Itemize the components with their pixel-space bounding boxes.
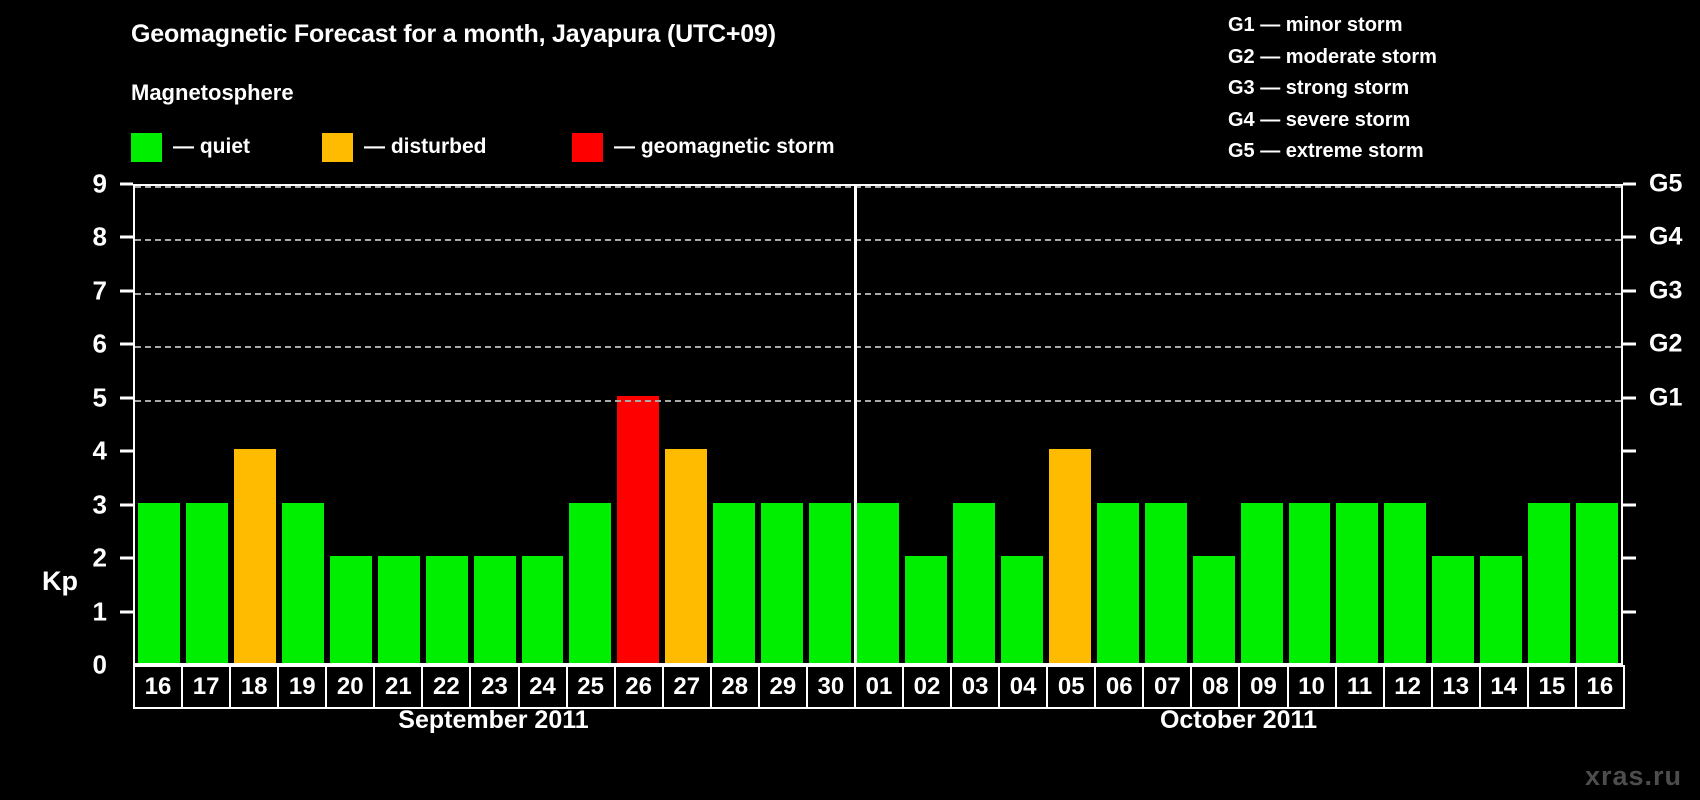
y-tick-mark xyxy=(120,236,133,239)
bar xyxy=(1432,556,1474,663)
gscale-row: G3 — strong storm xyxy=(1228,73,1437,105)
bar-cell xyxy=(1381,186,1429,663)
gridline xyxy=(135,346,1621,348)
bar xyxy=(186,503,228,663)
bar xyxy=(522,556,564,663)
page-title: Geomagnetic Forecast for a month, Jayapu… xyxy=(131,20,776,49)
g-tick-mark xyxy=(1623,503,1636,506)
g-axis: G1G2G3G4G5 xyxy=(1623,184,1700,665)
bar xyxy=(1049,449,1091,663)
g-tick-mark xyxy=(1623,343,1636,346)
bar xyxy=(761,503,803,663)
bar-cell xyxy=(135,186,183,663)
legend-item: — geomagnetic storm xyxy=(572,132,835,162)
watermark: xras.ru xyxy=(1585,761,1682,792)
bar xyxy=(282,503,324,663)
g-tick-mark xyxy=(1623,450,1636,453)
bar-cell xyxy=(1573,186,1621,663)
y-tick-mark xyxy=(120,183,133,186)
bar-cell xyxy=(998,186,1046,663)
month-label: September 2011 xyxy=(398,706,588,735)
y-axis: Kp 0123456789 xyxy=(0,184,133,665)
gscale-row: G1 — minor storm xyxy=(1228,10,1437,42)
bar-cell xyxy=(1094,186,1142,663)
gscale-legend: G1 — minor stormG2 — moderate stormG3 — … xyxy=(1228,10,1437,168)
bar xyxy=(569,503,611,663)
bar-cell xyxy=(423,186,471,663)
bar xyxy=(1097,503,1139,663)
bar-cell xyxy=(854,186,902,663)
y-tick-mark xyxy=(120,343,133,346)
bar xyxy=(1576,503,1618,663)
y-tick-mark xyxy=(120,289,133,292)
bar xyxy=(857,503,899,663)
bar-cell xyxy=(1238,186,1286,663)
bar-cell xyxy=(375,186,423,663)
gscale-row: G4 — severe storm xyxy=(1228,105,1437,137)
bar-series xyxy=(135,186,1621,663)
gridline xyxy=(135,239,1621,241)
bar xyxy=(905,556,947,663)
bar xyxy=(1528,503,1570,663)
bar xyxy=(1384,503,1426,663)
bar-cell xyxy=(1286,186,1334,663)
bar xyxy=(1336,503,1378,663)
bar xyxy=(1193,556,1235,663)
y-axis-label: Kp xyxy=(42,566,78,597)
g-tick-mark xyxy=(1623,396,1636,399)
legend-swatch-icon xyxy=(572,133,603,162)
g-tick-label: G1 xyxy=(1649,383,1682,412)
bar xyxy=(617,396,659,663)
chart-subtitle: Magnetosphere xyxy=(131,80,294,106)
month-axis: September 2011October 2011 xyxy=(133,678,1623,738)
bar xyxy=(1145,503,1187,663)
bar xyxy=(953,503,995,663)
bar xyxy=(1480,556,1522,663)
gscale-row: G2 — moderate storm xyxy=(1228,42,1437,74)
bar-cell xyxy=(614,186,662,663)
g-tick-mark xyxy=(1623,610,1636,613)
bar-cell xyxy=(183,186,231,663)
bar xyxy=(330,556,372,663)
legend-swatch-icon xyxy=(322,133,353,162)
legend-label: — disturbed xyxy=(364,135,487,159)
y-tick-label: 1 xyxy=(93,596,107,627)
y-tick-mark xyxy=(120,396,133,399)
bar xyxy=(474,556,516,663)
bar-cell xyxy=(1333,186,1381,663)
bar xyxy=(665,449,707,663)
bar xyxy=(378,556,420,663)
y-tick-label: 6 xyxy=(93,329,107,360)
g-tick-mark xyxy=(1623,183,1636,186)
bar-cell xyxy=(902,186,950,663)
g-tick-label: G2 xyxy=(1649,330,1682,359)
bar xyxy=(234,449,276,663)
y-tick-label: 4 xyxy=(93,436,107,467)
g-tick-label: G3 xyxy=(1649,276,1682,305)
legend-item: — quiet xyxy=(131,132,250,162)
bar-cell xyxy=(279,186,327,663)
y-tick-mark xyxy=(120,503,133,506)
bar-cell xyxy=(1046,186,1094,663)
legend-swatch-icon xyxy=(131,133,162,162)
y-tick-label: 8 xyxy=(93,222,107,253)
bar-cell xyxy=(566,186,614,663)
y-tick-mark xyxy=(120,610,133,613)
bar-cell xyxy=(1142,186,1190,663)
legend-item: — disturbed xyxy=(322,132,487,162)
bar-cell xyxy=(327,186,375,663)
plot-area xyxy=(133,184,1623,665)
g-tick-label: G5 xyxy=(1649,170,1682,199)
bar xyxy=(809,503,851,663)
y-tick-label: 7 xyxy=(93,275,107,306)
y-tick-label: 5 xyxy=(93,382,107,413)
bar-cell xyxy=(758,186,806,663)
bar xyxy=(1289,503,1331,663)
bar xyxy=(138,503,180,663)
y-tick-mark xyxy=(120,450,133,453)
bar-cell xyxy=(1477,186,1525,663)
bar-cell xyxy=(662,186,710,663)
gscale-row: G5 — extreme storm xyxy=(1228,136,1437,168)
bar-cell xyxy=(806,186,854,663)
y-tick-mark xyxy=(120,557,133,560)
y-tick-label: 9 xyxy=(93,169,107,200)
g-tick-mark xyxy=(1623,289,1636,292)
bar-cell xyxy=(519,186,567,663)
bar-cell xyxy=(710,186,758,663)
bar-cell xyxy=(1190,186,1238,663)
month-separator xyxy=(854,186,857,663)
geomagnetic-forecast-chart: Geomagnetic Forecast for a month, Jayapu… xyxy=(0,0,1700,800)
y-tick-label: 0 xyxy=(93,650,107,681)
gridline xyxy=(135,400,1621,402)
gridline xyxy=(135,186,1621,188)
g-tick-label: G4 xyxy=(1649,223,1682,252)
gridline xyxy=(135,293,1621,295)
g-tick-mark xyxy=(1623,557,1636,560)
bar-cell xyxy=(231,186,279,663)
bar xyxy=(1241,503,1283,663)
bar xyxy=(1001,556,1043,663)
bar xyxy=(713,503,755,663)
month-label: October 2011 xyxy=(1160,706,1317,735)
y-tick-label: 3 xyxy=(93,489,107,520)
legend-label: — quiet xyxy=(173,135,250,159)
bar-cell xyxy=(471,186,519,663)
g-tick-mark xyxy=(1623,236,1636,239)
bar-cell xyxy=(950,186,998,663)
bar xyxy=(426,556,468,663)
y-tick-label: 2 xyxy=(93,543,107,574)
bar-cell xyxy=(1429,186,1477,663)
bar-cell xyxy=(1525,186,1573,663)
legend-label: — geomagnetic storm xyxy=(614,135,835,159)
